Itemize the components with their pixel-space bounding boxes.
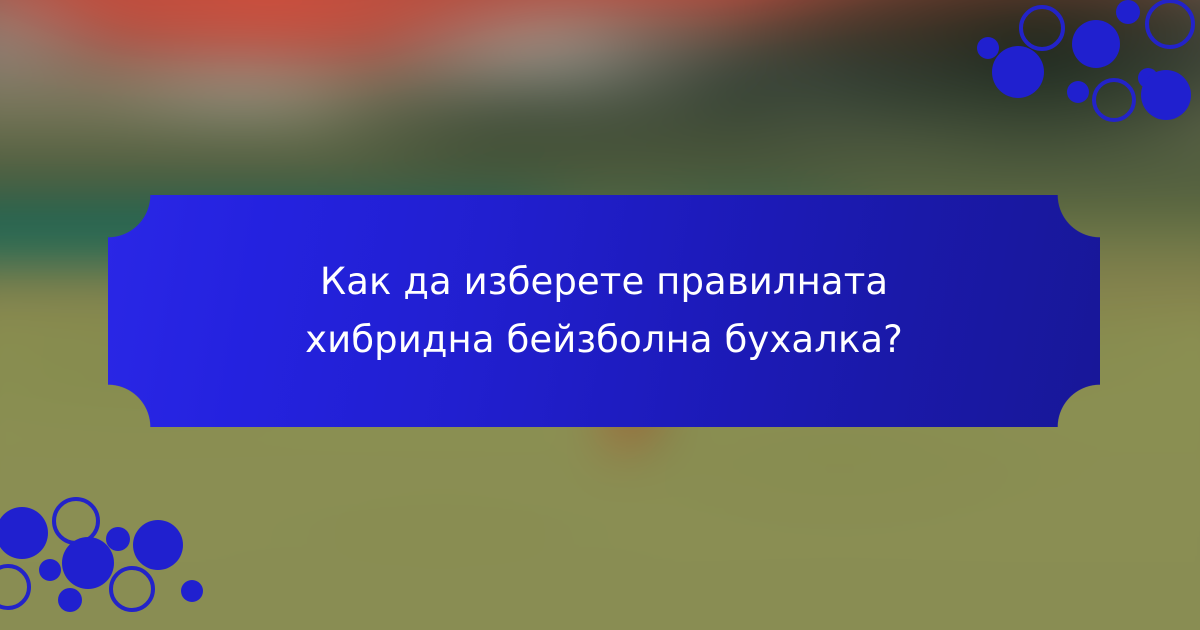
- deco-circle-bl-dot-6: [62, 537, 114, 589]
- deco-circle-tr-dot-1: [977, 37, 999, 59]
- deco-circle-bl-dot-1: [0, 507, 48, 559]
- deco-circle-tr-dot-3: [1116, 0, 1140, 24]
- deco-circle-tr-dot-2: [1019, 5, 1065, 51]
- deco-circle-bl-dot-10: [181, 580, 203, 602]
- deco-circle-bl-dot-9: [109, 566, 155, 612]
- deco-circle-bl-dot-3: [106, 527, 130, 551]
- headline-title: Как да изберете правилната хибридна бейз…: [184, 253, 1024, 370]
- decorative-circles-top-right: [980, 0, 1200, 130]
- deco-circle-bl-dot-5: [39, 559, 61, 581]
- deco-circle-bl-dot-8: [58, 588, 82, 612]
- decorative-circles-bottom-left: [0, 505, 220, 630]
- deco-circle-tr-dot-5: [992, 46, 1044, 98]
- deco-circle-tr-dot-9: [1092, 78, 1136, 122]
- deco-circle-bl-dot-4: [133, 520, 183, 570]
- deco-circle-tr-dot-4: [1145, 0, 1195, 49]
- deco-circle-tr-dot-10: [1141, 70, 1191, 120]
- social-card-canvas: Как да изберете правилната хибридна бейз…: [0, 0, 1200, 630]
- headline-card: Как да изберете правилната хибридна бейз…: [108, 195, 1100, 427]
- deco-circle-tr-dot-6: [1072, 20, 1120, 68]
- deco-circle-bl-dot-7: [0, 564, 31, 610]
- deco-circle-tr-dot-8: [1067, 81, 1089, 103]
